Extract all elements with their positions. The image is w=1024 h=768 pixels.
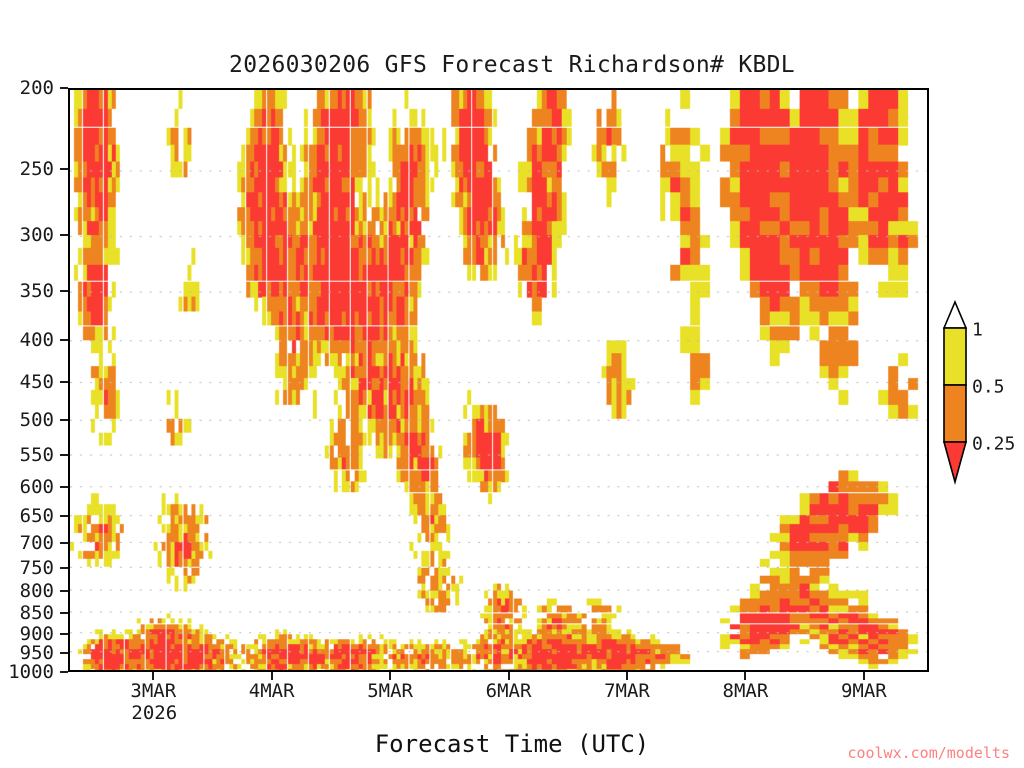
watermark: coolwx.com/modelts	[847, 744, 1010, 762]
y-axis-tick	[60, 234, 68, 236]
x-axis-tick	[508, 672, 510, 680]
y-axis-tick	[60, 454, 68, 456]
y-axis-tick	[60, 419, 68, 421]
y-axis-tick	[60, 290, 68, 292]
x-axis-tick	[389, 672, 391, 680]
x-axis-tick	[744, 672, 746, 680]
colorbar-tick-label: 0.5	[972, 377, 1005, 398]
x-axis-tick-label: 3MAR2026	[129, 680, 177, 724]
y-axis-tick	[60, 87, 68, 89]
y-axis-tick	[60, 652, 68, 654]
x-axis-year-label: 2026	[131, 702, 177, 724]
y-axis-tick	[60, 515, 68, 517]
x-axis-tick-label: 4MAR	[249, 680, 295, 702]
colorbar-legend: 10.50.25	[938, 300, 1024, 500]
x-axis-tick-label: 5MAR	[367, 680, 413, 702]
y-axis-tick	[60, 590, 68, 592]
x-axis-labels: 3MAR20264MAR5MAR6MAR7MAR8MAR9MAR	[0, 676, 1024, 726]
colorbar-tick-label: 1	[972, 320, 983, 341]
y-axis-tick	[60, 168, 68, 170]
x-axis-tick-label: 8MAR	[723, 680, 769, 702]
y-axis-tick	[60, 671, 68, 673]
x-axis-tick	[152, 672, 154, 680]
colorbar-tick-label: 0.25	[972, 434, 1015, 455]
x-axis-tick	[271, 672, 273, 680]
chart-root: 2026030206 GFS Forecast Richardson# KBDL…	[0, 0, 1024, 768]
y-axis-ticks	[0, 0, 1024, 768]
y-axis-tick	[60, 339, 68, 341]
x-axis-tick-label: 6MAR	[486, 680, 532, 702]
x-axis-tick-label: 7MAR	[604, 680, 650, 702]
y-axis-tick	[60, 612, 68, 614]
x-axis-tick	[626, 672, 628, 680]
y-axis-tick	[60, 567, 68, 569]
y-axis-tick	[60, 542, 68, 544]
y-axis-tick	[60, 486, 68, 488]
x-axis-tick	[863, 672, 865, 680]
y-axis-tick	[60, 381, 68, 383]
x-axis-tick-label: 9MAR	[841, 680, 887, 702]
y-axis-tick	[60, 633, 68, 635]
